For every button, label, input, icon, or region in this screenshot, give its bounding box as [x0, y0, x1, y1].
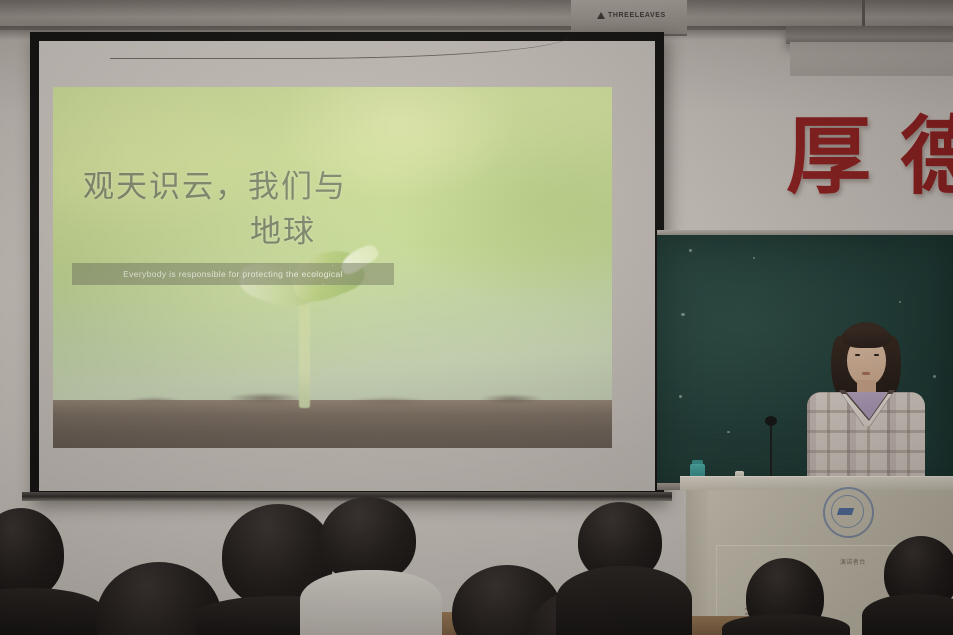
chalk-speck: [681, 313, 685, 316]
slide-soil-texture: [53, 392, 612, 408]
classroom-photo: THREELEAVES 观天识云，我们与 地球 Everybody is res…: [0, 0, 953, 635]
audience-shoulders: [722, 614, 850, 635]
microphone-stand: [770, 420, 772, 482]
slide-subtitle-bar: Everybody is responsible for protecting …: [72, 263, 394, 285]
audience-shoulders-light: [300, 570, 442, 635]
triangle-logo-icon: [597, 12, 605, 19]
slide-title: 观天识云，我们与 地球: [83, 165, 443, 255]
chalk-speck: [727, 431, 730, 433]
wall-calligraphy-1: 厚: [786, 116, 871, 201]
presenter-eye-right: [874, 354, 879, 356]
presenter-mouth: [862, 372, 870, 375]
presenter: [795, 318, 935, 493]
ceiling-light-stem: [862, 0, 865, 28]
projected-slide: 观天识云，我们与 地球 Everybody is responsible for…: [53, 87, 612, 448]
projector-screen-bottom-bar: [22, 492, 672, 501]
chalk-speck: [899, 301, 901, 303]
microphone-icon: [765, 416, 777, 426]
slide-title-line1: 观天识云，我们与: [83, 169, 347, 204]
presenter-fringe: [842, 326, 891, 348]
chalk-speck: [689, 249, 692, 252]
ceiling-light-diffuser: [790, 42, 953, 76]
brand-label: THREELEAVES: [608, 12, 666, 19]
podium-top-surface: [680, 476, 953, 491]
chalk-speck: [753, 257, 755, 259]
brand-logo: THREELEAVES: [597, 12, 666, 19]
slide-title-line2: 地球: [83, 210, 443, 255]
audience-shoulders: [556, 566, 692, 635]
university-seal-mark: [837, 508, 854, 515]
wall-calligraphy-2: 德: [900, 116, 953, 201]
audience-shoulders: [862, 594, 953, 635]
slide-subtitle-text: Everybody is responsible for protecting …: [123, 269, 343, 279]
presenter-eye-left: [855, 354, 860, 356]
chalk-speck: [679, 395, 682, 398]
